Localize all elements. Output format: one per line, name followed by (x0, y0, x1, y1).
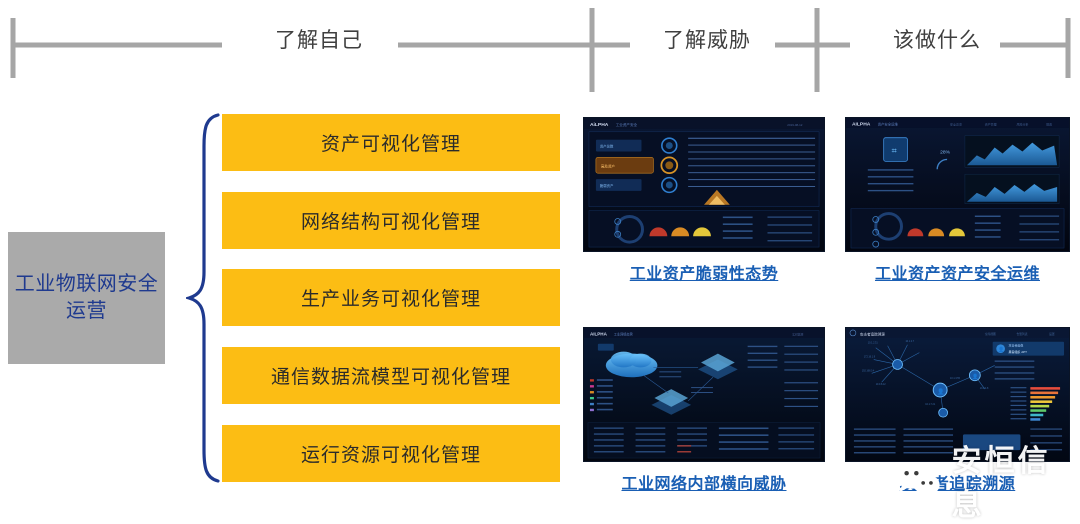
header-section: 了解自己 了解威胁 该做什么 (0, 0, 1080, 95)
screenshot-caption: 工业网络内部横向威胁 (583, 470, 825, 494)
capability-bar[interactable]: 网络结构可视化管理 (222, 192, 560, 249)
svg-text:脆弱资产: 脆弱资产 (600, 183, 614, 188)
svg-text:攻击者画像: 攻击者画像 (1009, 343, 1024, 348)
capability-bar-label: 资产可视化管理 (321, 129, 461, 156)
root-concept-label: 工业物联网安全运营 (8, 271, 165, 325)
header-label-know-self: 了解自己 (275, 30, 363, 51)
dashboard-mock-graphic: 攻击者追踪溯源 全局视图 告警列表 设置 (846, 328, 1069, 461)
screenshot-card[interactable]: AiLPHA 工业网络态势 实时监测 (583, 327, 825, 494)
svg-text:工业资产安全: 工业资产安全 (616, 122, 638, 127)
svg-text:10.0.8.12: 10.0.8.12 (876, 383, 887, 386)
svg-text:⌗: ⌗ (892, 145, 897, 155)
capability-bar-list: 资产可视化管理 网络结构可视化管理 生产业务可视化管理 通信数据流模型可视化管理… (222, 114, 560, 482)
svg-text:10.1.7.21: 10.1.7.21 (925, 403, 936, 406)
svg-text:10.1.3.55: 10.1.3.55 (950, 377, 961, 380)
svg-text:攻击者追踪溯源: 攻击者追踪溯源 (860, 331, 885, 336)
svg-text:AiLPHA: AiLPHA (852, 121, 871, 127)
svg-text:2019-08-12: 2019-08-12 (787, 123, 803, 127)
svg-text:👤: 👤 (998, 346, 1004, 353)
brace-connector (186, 112, 222, 484)
svg-text:28%: 28% (940, 149, 951, 155)
capability-bar-label: 生产业务可视化管理 (301, 284, 481, 311)
svg-text:设置: 设置 (1049, 332, 1055, 336)
screenshot-thumbnail-attacker-trace[interactable]: 攻击者追踪溯源 全局视图 告警列表 设置 (845, 327, 1070, 462)
screenshot-card[interactable]: AiLPHA 工业资产安全 2019-08-12 资产总数 高危资产 脆弱资产 (583, 117, 825, 284)
capability-bar[interactable]: 资产可视化管理 (222, 114, 560, 171)
svg-text:告警列表: 告警列表 (1016, 332, 1027, 336)
svg-text:👤: 👤 (937, 388, 944, 396)
svg-text:10.1.2.31: 10.1.2.31 (868, 342, 879, 345)
svg-text:192.168.0.4: 192.168.0.4 (862, 369, 875, 372)
svg-text:实时监测: 实时监测 (792, 332, 803, 336)
screenshot-card[interactable]: 攻击者追踪溯源 全局视图 告警列表 设置 (845, 327, 1070, 494)
svg-text:工业网络态势: 工业网络态势 (614, 331, 634, 336)
svg-text:10.1.2.7: 10.1.2.7 (905, 340, 914, 343)
capability-bar[interactable]: 运行资源可视化管理 (222, 425, 560, 482)
screenshot-caption: 工业资产脆弱性态势 (583, 260, 825, 284)
screenshot-card[interactable]: AiLPHA 资产安全运维 安全总览 资产管理 风险分析 配置 ⌗ 28% (845, 117, 1070, 284)
screenshot-thumbnail-asset-operations[interactable]: AiLPHA 资产安全运维 安全总览 资产管理 风险分析 配置 ⌗ 28% (845, 117, 1070, 252)
svg-text:风险分析: 风险分析 (1016, 121, 1028, 126)
svg-text:全局视图: 全局视图 (985, 332, 996, 336)
svg-text:👤: 👤 (972, 373, 978, 380)
svg-text:高危资产: 高危资产 (601, 163, 616, 168)
capability-bar-label: 网络结构可视化管理 (301, 207, 481, 234)
capability-bar[interactable]: 通信数据流模型可视化管理 (222, 347, 560, 404)
svg-text:10.2.4.8: 10.2.4.8 (980, 387, 989, 390)
capability-bar-label: 通信数据流模型可视化管理 (271, 362, 511, 389)
dashboard-mock-graphic: AiLPHA 工业资产安全 2019-08-12 资产总数 高危资产 脆弱资产 (584, 118, 824, 251)
capability-bar[interactable]: 生产业务可视化管理 (222, 269, 560, 326)
svg-text:AiLPHA: AiLPHA (590, 122, 609, 128)
svg-text:黑客组织 APT: 黑客组织 APT (1009, 349, 1028, 354)
curly-brace-icon (186, 112, 222, 484)
svg-text:资产安全运维: 资产安全运维 (878, 121, 899, 126)
svg-text:AiLPHA: AiLPHA (590, 331, 608, 336)
screenshot-thumbnail-asset-vulnerability[interactable]: AiLPHA 工业资产安全 2019-08-12 资产总数 高危资产 脆弱资产 (583, 117, 825, 252)
root-concept-block: 工业物联网安全运营 (8, 232, 165, 364)
header-label-what-to-do: 该做什么 (893, 30, 981, 51)
header-label-know-threat: 了解威胁 (663, 30, 751, 51)
screenshot-caption: 攻击者追踪溯源 (845, 470, 1070, 494)
screenshot-thumbnail-network-topology[interactable]: AiLPHA 工业网络态势 实时监测 (583, 327, 825, 462)
capability-bar-label: 运行资源可视化管理 (301, 440, 481, 467)
dashboard-mock-graphic: AiLPHA 资产安全运维 安全总览 资产管理 风险分析 配置 ⌗ 28% (846, 118, 1069, 251)
svg-text:安全总览: 安全总览 (950, 121, 962, 126)
dashboard-mock-graphic: AiLPHA 工业网络态势 实时监测 (584, 328, 824, 461)
svg-text:配置: 配置 (1046, 121, 1052, 126)
diagram-canvas: 了解自己 了解威胁 该做什么 工业物联网安全运营 资产可视化管理 网络结构可视化… (0, 0, 1080, 503)
svg-text:资产管理: 资产管理 (985, 121, 997, 126)
svg-text:资产总数: 资产总数 (600, 144, 614, 149)
screenshot-caption: 工业资产资产安全运维 (845, 260, 1070, 284)
svg-text:172.16.1.9: 172.16.1.9 (864, 356, 876, 359)
